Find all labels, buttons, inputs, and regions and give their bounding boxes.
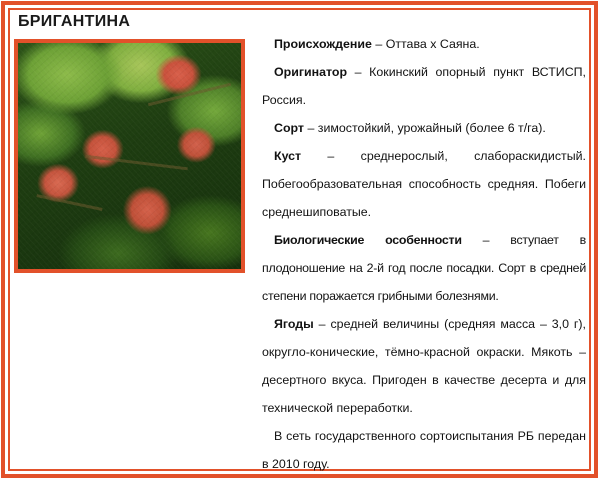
description-text-column: Происхождение – Оттава х Саяна. Оригинат… [262,30,586,478]
paragraph-berries: Ягоды – средней величины (средняя масса … [262,310,586,422]
paragraph-origin: Происхождение – Оттава х Саяна. [262,30,586,58]
paragraph-lead: Оригинатор [274,65,347,79]
paragraph-lead: Ягоды [274,317,314,331]
paragraph-body: – зимостойкий, урожайный (более 6 т/га). [304,121,546,135]
paragraph-body: – Оттава х Саяна. [372,37,480,51]
paragraph-lead: Куст [274,149,301,163]
page-title: БРИГАНТИНА [14,10,246,36]
slide-page: БРИГАНТИНА Происхождение – Оттава х Саян… [0,0,600,480]
left-column: БРИГАНТИНА [14,10,246,36]
photo-texture [18,43,241,269]
paragraph-variety: Сорт – зимостойкий, урожайный (более 6 т… [262,114,586,142]
paragraph-trials: В сеть государственного сортоиспытания Р… [262,422,586,478]
paragraph-lead: Сорт [274,121,304,135]
paragraph-originator: Оригинатор – Кокинский опорный пункт ВСТ… [262,58,586,114]
raspberry-bush-photo [14,39,245,273]
paragraph-body: – среднерослый, слабораскидистый. Побего… [262,149,586,219]
paragraph-lead: Биологические особенности [274,233,462,247]
photo-image [18,43,241,269]
paragraph-body: – средней величины (средняя масса – 3,0 … [262,317,586,415]
paragraph-body: В сеть государственного сортоиспытания Р… [262,429,586,471]
paragraph-lead: Происхождение [274,37,372,51]
paragraph-bush: Куст – среднерослый, слабораскидистый. П… [262,142,586,226]
paragraph-biology: Биологические особенности – вступает в п… [262,226,586,310]
